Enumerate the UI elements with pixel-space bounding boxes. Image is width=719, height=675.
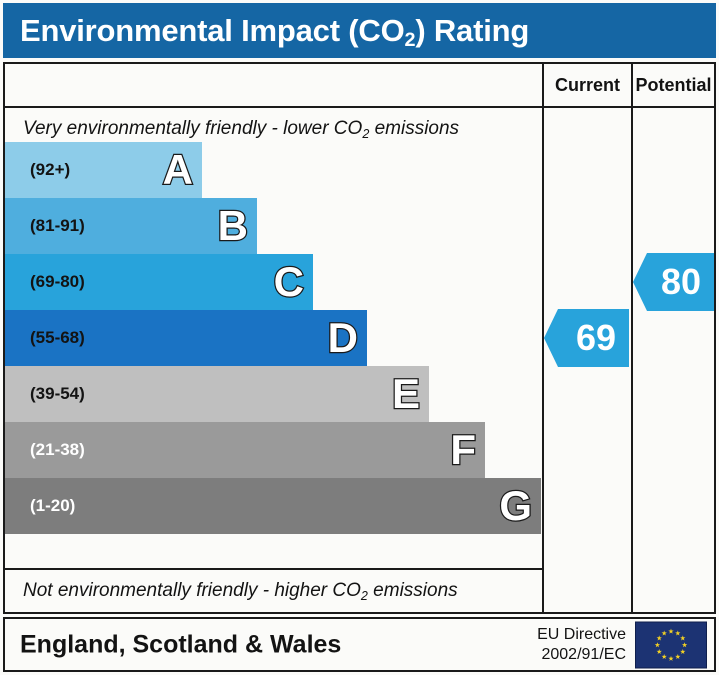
band-letter-c: C — [274, 261, 304, 303]
band-letter-g: G — [499, 485, 532, 527]
page-title-subscript: 2 — [405, 29, 416, 51]
caption-bottom: Not environmentally friendly - higher CO… — [5, 570, 542, 612]
band-range-d: (55-68) — [30, 328, 85, 348]
caption-top-tail: emissions — [369, 118, 459, 139]
rating-band-g: (1-20)G — [5, 478, 541, 534]
caption-top-lead: Very environmentally friendly - lower CO — [23, 118, 362, 139]
page-title-tail: ) Rating — [415, 13, 529, 48]
rating-band-c: (69-80)C — [5, 254, 313, 310]
rating-band-b: (81-91)B — [5, 198, 257, 254]
footer-directive-line2: 2002/91/EC — [537, 645, 626, 665]
band-range-e: (39-54) — [30, 384, 85, 404]
column-header-current: Current — [544, 64, 631, 106]
rating-bands: (92+)A(81-91)B(69-80)C(55-68)D(39-54)E(2… — [5, 142, 542, 532]
band-letter-b: B — [218, 205, 248, 247]
rating-band-a: (92+)A — [5, 142, 202, 198]
band-letter-e: E — [392, 373, 420, 415]
footer-region-label: England, Scotland & Wales — [20, 630, 341, 659]
epc-environmental-impact-chart: Environmental Impact (CO2) Rating Curren… — [0, 0, 719, 675]
caption-bottom-lead: Not environmentally friendly - higher CO — [23, 580, 361, 601]
column-header-potential: Potential — [633, 64, 714, 106]
band-letter-f: F — [450, 429, 476, 471]
footer-directive-line1: EU Directive — [537, 625, 626, 645]
band-letter-d: D — [328, 317, 358, 359]
caption-bottom-tail: emissions — [368, 580, 458, 601]
rating-band-e: (39-54)E — [5, 366, 429, 422]
rating-band-f: (21-38)F — [5, 422, 485, 478]
caption-bottom-subscript: 2 — [361, 589, 368, 603]
rating-grid: Current Potential Very environmentally f… — [3, 62, 716, 614]
caption-top-subscript: 2 — [362, 127, 369, 141]
band-range-a: (92+) — [30, 160, 70, 180]
rating-arrow-current: 69 — [544, 309, 629, 367]
band-range-b: (81-91) — [30, 216, 85, 236]
rating-band-d: (55-68)D — [5, 310, 367, 366]
rating-arrow-potential: 80 — [633, 253, 714, 311]
band-range-g: (1-20) — [30, 496, 75, 516]
band-letter-a: A — [163, 149, 193, 191]
eu-flag-icon — [635, 621, 707, 668]
eu-flag-stars — [636, 622, 706, 667]
page-title-main: Environmental Impact (CO — [20, 13, 405, 48]
column-divider-current — [542, 64, 544, 612]
chart-footer: England, Scotland & Wales EU Directive 2… — [3, 617, 716, 672]
chart-title-bar: Environmental Impact (CO2) Rating — [3, 3, 716, 58]
page-title: Environmental Impact (CO2) Rating — [20, 13, 529, 49]
footer-directive: EU Directive 2002/91/EC — [537, 625, 626, 665]
column-divider-potential — [631, 64, 633, 612]
band-range-f: (21-38) — [30, 440, 85, 460]
band-range-c: (69-80) — [30, 272, 85, 292]
